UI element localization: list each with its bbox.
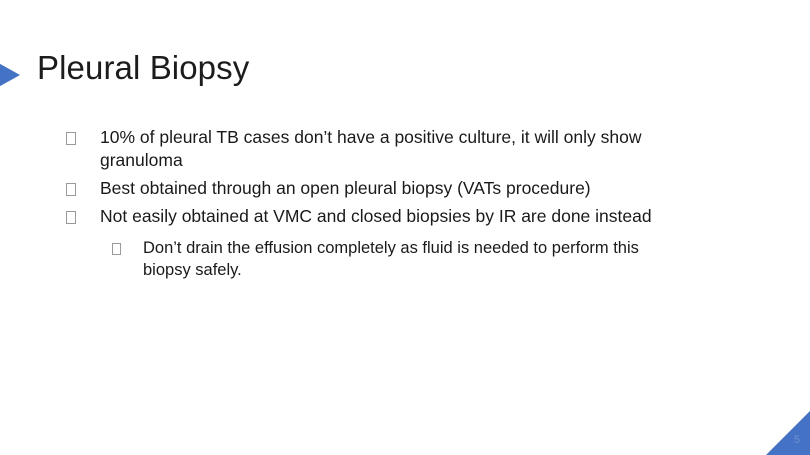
list-item: 10% of pleural TB cases don’t have a pos… — [66, 126, 706, 172]
bullet-list: 10% of pleural TB cases don’t have a pos… — [66, 126, 706, 281]
sub-list-item-label: Don’t drain the effusion completely as f… — [143, 237, 643, 281]
list-item: Best obtained through an open pleural bi… — [66, 177, 706, 200]
sub-list-item: Don’t drain the effusion completely as f… — [112, 237, 706, 281]
list-item-label: Not easily obtained at VMC and closed bi… — [100, 205, 652, 228]
hollow-box-bullet-icon — [66, 126, 100, 149]
hollow-box-bullet-icon — [66, 205, 100, 228]
page-title: Pleural Biopsy — [37, 48, 249, 88]
slide-number: 5 — [794, 435, 800, 446]
hollow-box-bullet-icon — [66, 177, 100, 200]
title-accent-chevron-icon — [0, 56, 20, 94]
list-item: Not easily obtained at VMC and closed bi… — [66, 205, 706, 228]
list-item-label: 10% of pleural TB cases don’t have a pos… — [100, 126, 660, 172]
hollow-box-bullet-icon — [112, 237, 143, 259]
list-item-label: Best obtained through an open pleural bi… — [100, 177, 591, 200]
presentation-slide: Pleural Biopsy 10% of pleural TB cases d… — [0, 0, 810, 455]
corner-triangle-accent-icon — [766, 411, 810, 455]
